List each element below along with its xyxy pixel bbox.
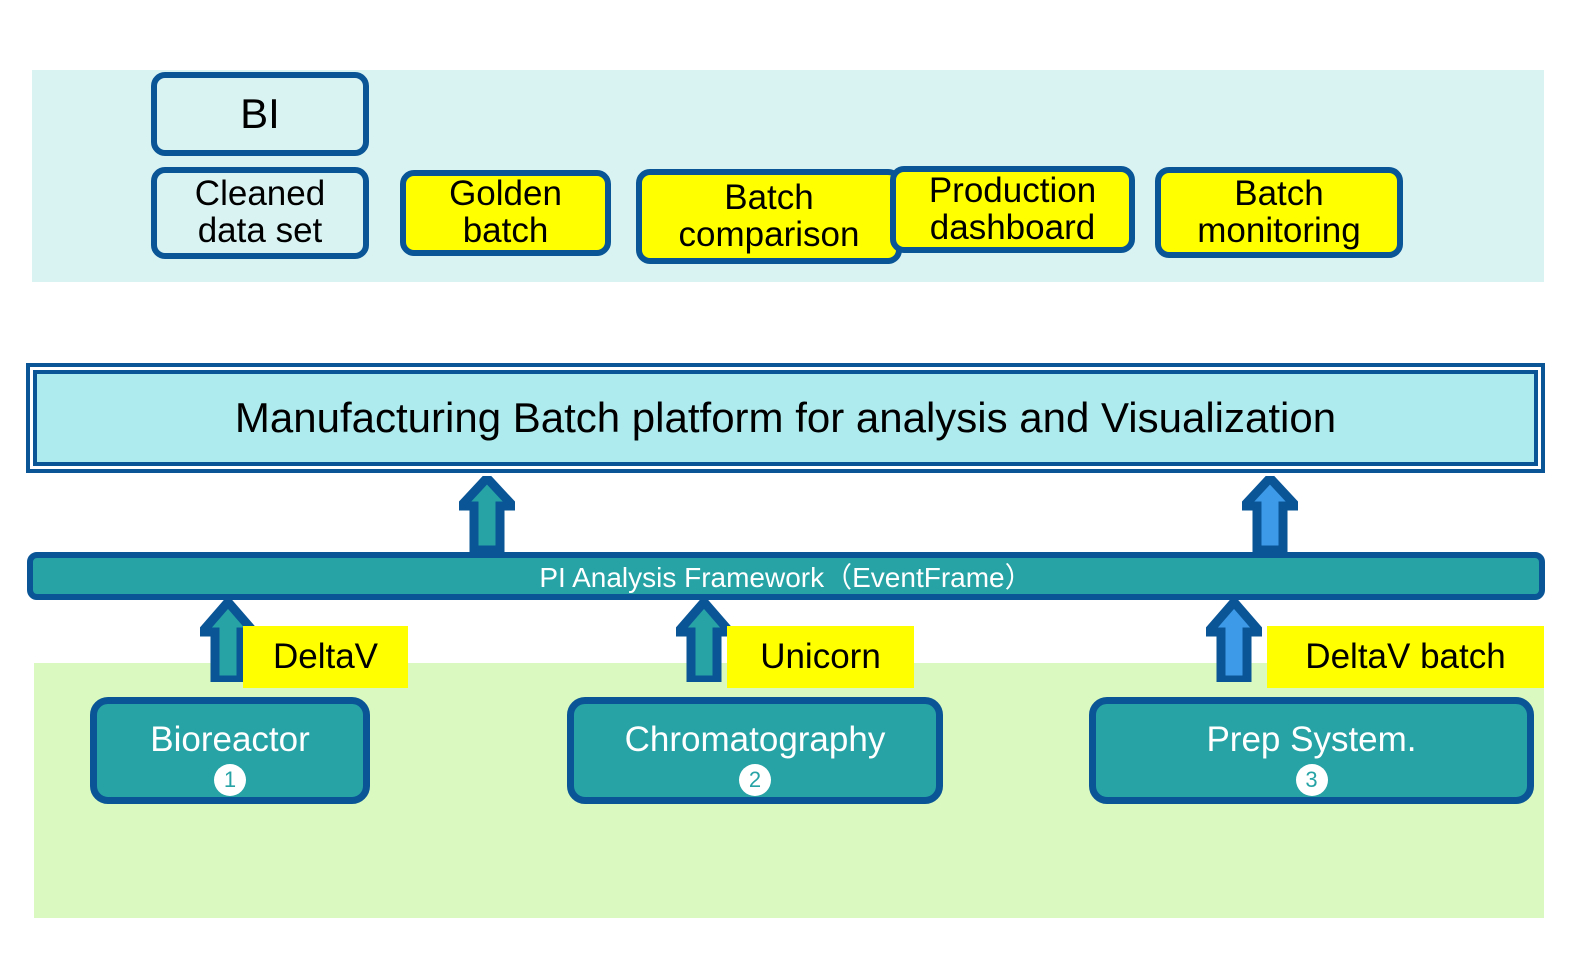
pi-analysis-framework-bar[interactable]: PI Analysis Framework（EventFrame）	[27, 552, 1545, 600]
arrow-up-to-platform-right	[1242, 476, 1298, 552]
source-box-chromatography-label: Chromatography	[625, 720, 886, 760]
source-badge-prepsystem: 3	[1296, 764, 1328, 796]
cleaned-data-set-box[interactable]: Cleaned data set	[151, 167, 369, 259]
protocol-tag-deltav-batch[interactable]: DeltaV batch	[1267, 626, 1544, 688]
source-box-prepsystem[interactable]: Prep System. 3	[1089, 697, 1534, 804]
bi-box[interactable]: BI	[151, 72, 369, 156]
batch-monitoring-box[interactable]: Batch monitoring	[1155, 167, 1403, 258]
dashboard-line-1: Production	[929, 171, 1096, 210]
source-badge-chromatography: 2	[739, 764, 771, 796]
source-box-chromatography[interactable]: Chromatography 2	[567, 697, 943, 804]
golden-batch-label: Golden batch	[449, 176, 562, 250]
platform-title: Manufacturing Batch platform for analysi…	[235, 394, 1336, 442]
bi-box-label: BI	[240, 92, 280, 136]
arrow-up-to-platform-center	[459, 476, 515, 552]
batch-comparison-box[interactable]: Batch comparison	[636, 169, 902, 264]
source-box-prepsystem-label: Prep System.	[1206, 720, 1416, 760]
protocol-tag-deltav[interactable]: DeltaV	[243, 626, 408, 688]
golden-line-1: Golden	[449, 174, 562, 213]
dashboard-line-2: dashboard	[930, 208, 1095, 247]
protocol-tag-deltav-batch-label: DeltaV batch	[1305, 637, 1505, 677]
protocol-tag-unicorn[interactable]: Unicorn	[727, 626, 914, 688]
batch-comparison-label: Batch comparison	[679, 180, 860, 254]
golden-batch-box[interactable]: Golden batch	[400, 170, 611, 256]
pi-analysis-framework-label: PI Analysis Framework（EventFrame）	[539, 556, 1032, 596]
comparison-line-1: Batch	[724, 178, 814, 217]
production-dashboard-label: Production dashboard	[929, 173, 1096, 247]
comparison-line-2: comparison	[679, 215, 860, 254]
cleaned-data-set-label: Cleaned data set	[195, 176, 325, 250]
cleaned-line-1: Cleaned	[195, 174, 325, 213]
protocol-tag-unicorn-label: Unicorn	[760, 637, 881, 677]
monitoring-line-2: monitoring	[1197, 211, 1360, 250]
platform-bar-inner: Manufacturing Batch platform for analysi…	[33, 370, 1538, 466]
source-badge-bioreactor: 1	[214, 764, 246, 796]
arrow-up-chromatography-to-framework	[676, 600, 732, 682]
cleaned-line-2: data set	[198, 211, 323, 250]
protocol-tag-deltav-label: DeltaV	[273, 637, 378, 677]
source-box-bioreactor[interactable]: Bioreactor 1	[90, 697, 370, 804]
production-dashboard-box[interactable]: Production dashboard	[890, 166, 1135, 253]
golden-line-2: batch	[463, 211, 549, 250]
manufacturing-batch-platform-bar[interactable]: Manufacturing Batch platform for analysi…	[26, 363, 1545, 473]
source-box-bioreactor-label: Bioreactor	[150, 720, 310, 760]
batch-monitoring-label: Batch monitoring	[1197, 176, 1360, 250]
monitoring-line-1: Batch	[1234, 174, 1324, 213]
arrow-up-prepsystem-to-framework	[1206, 600, 1262, 682]
